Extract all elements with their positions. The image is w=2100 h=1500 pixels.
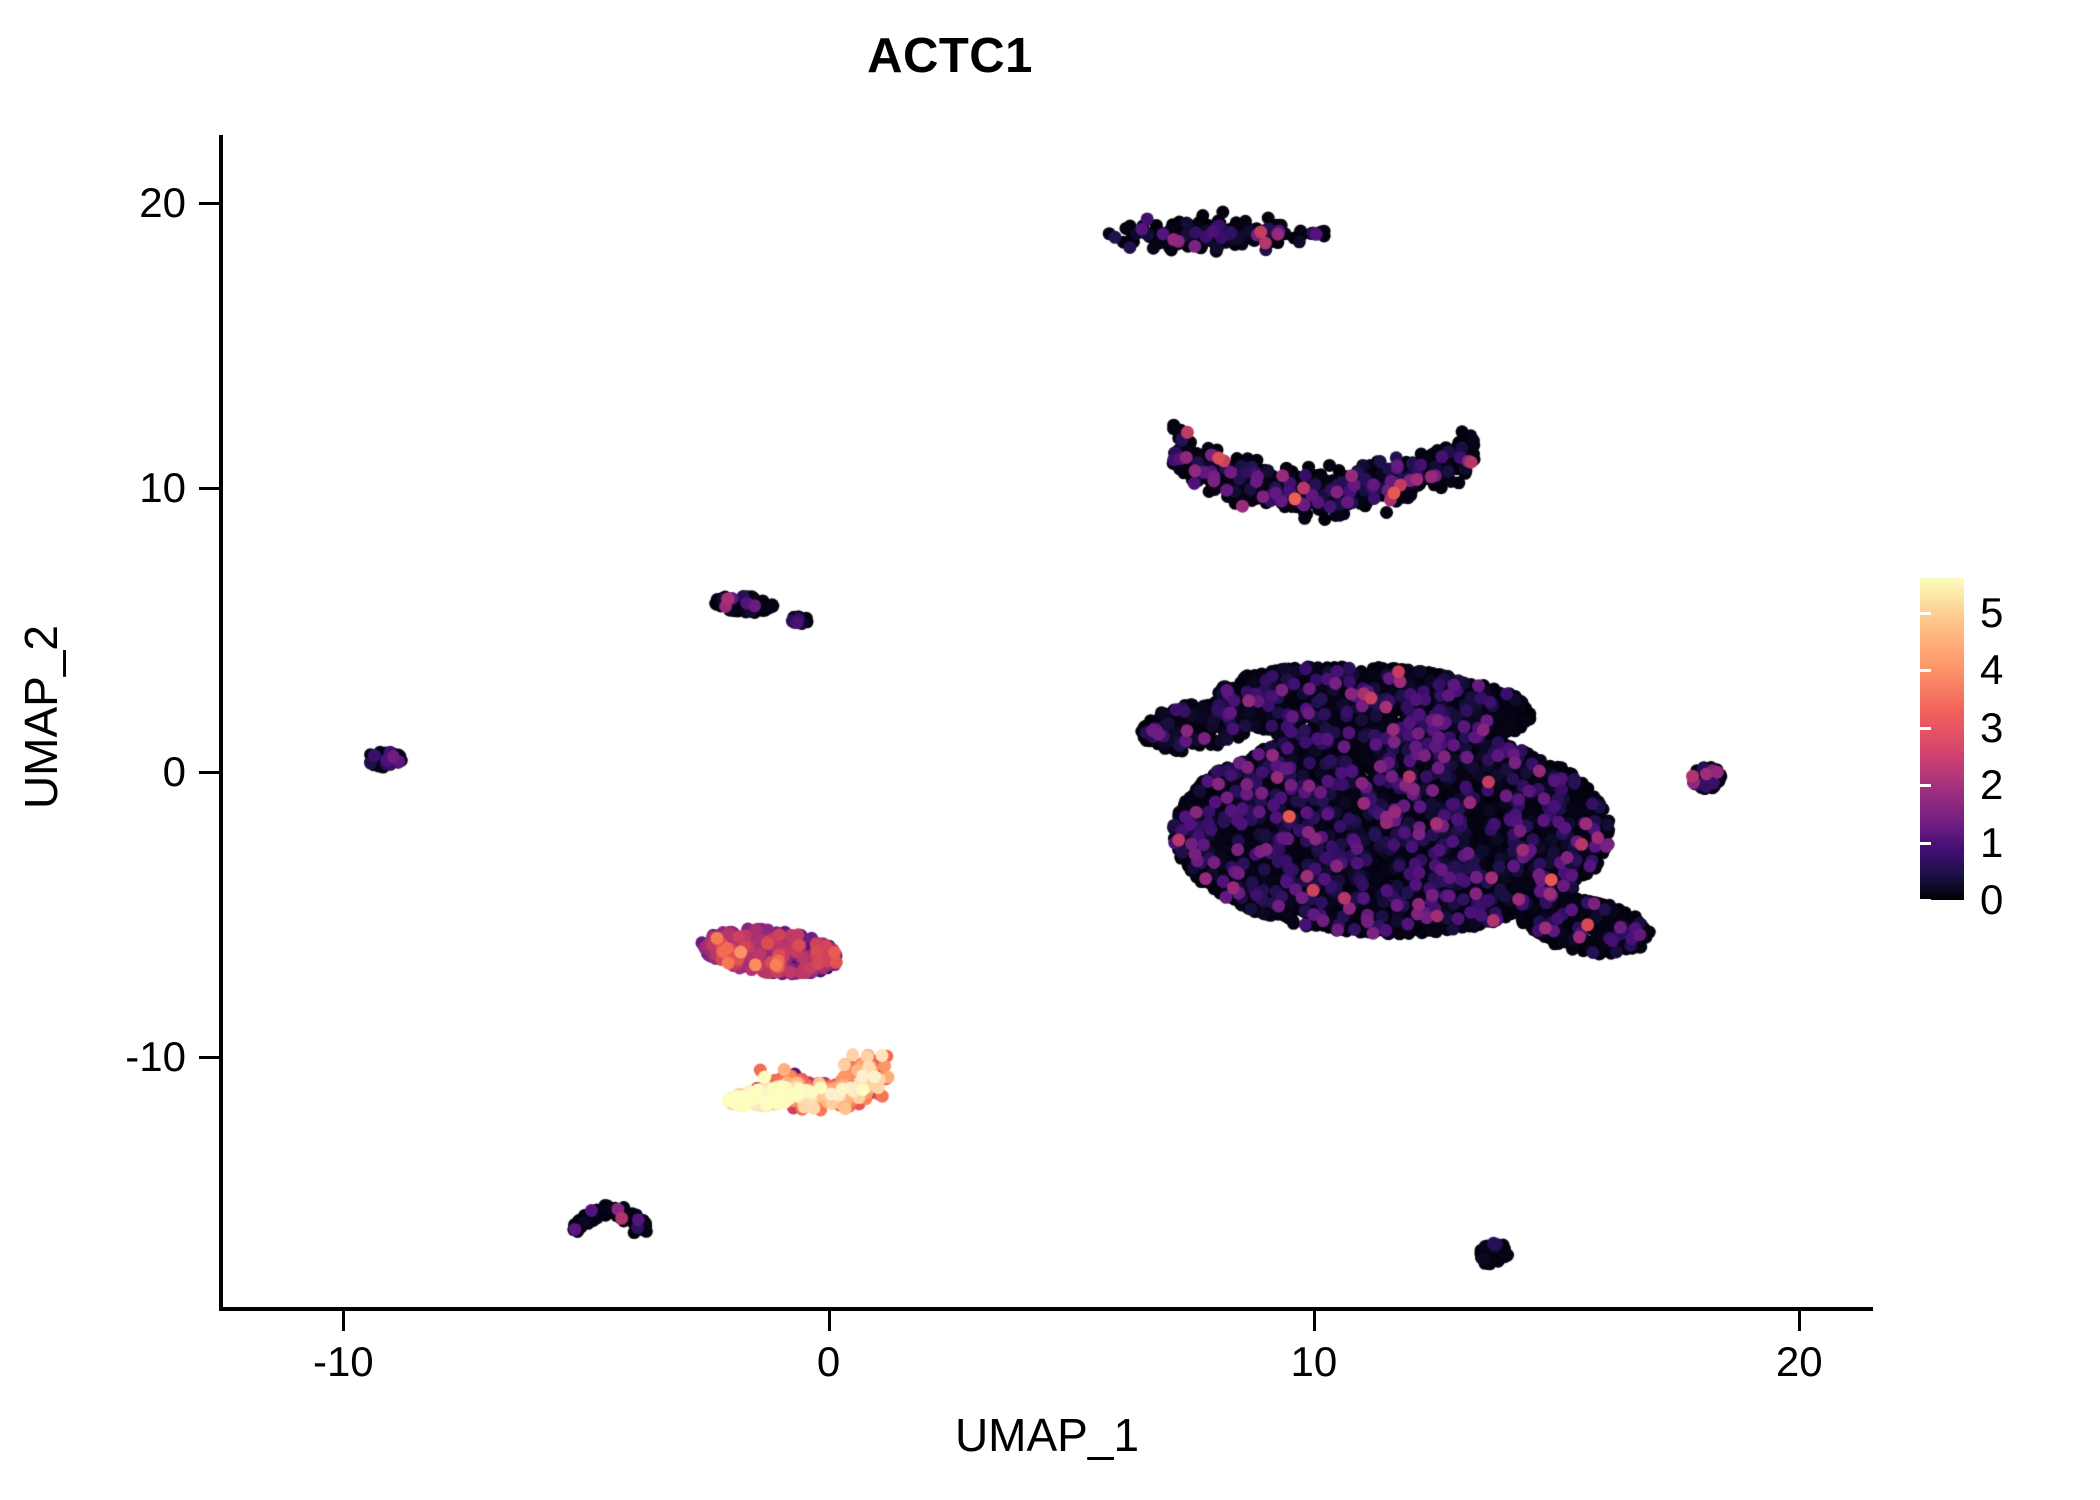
colorbar-tick-label: 3 [1980, 704, 2003, 752]
y-tick-mark [199, 771, 219, 774]
x-tick-mark [342, 1311, 345, 1331]
x-axis-title: UMAP_1 [222, 1408, 1872, 1462]
y-axis-title: UMAP_2 [14, 131, 68, 1303]
colorbar-tick-mark [2059, 612, 2070, 615]
x-tick-mark [1313, 1311, 1316, 1331]
x-tick-label: 0 [817, 1338, 840, 1386]
colorbar-tick-mark [1920, 612, 1931, 615]
colorbar-tick-label: 1 [1980, 819, 2003, 867]
colorbar-tick-mark [2059, 784, 2070, 787]
colorbar-tick-mark [2059, 842, 2070, 845]
scatter-canvas [222, 135, 1872, 1307]
colorbar-gradient [1920, 578, 1964, 900]
y-tick-mark [199, 1056, 219, 1059]
x-axis-line [222, 1307, 1873, 1311]
x-tick-mark [828, 1311, 831, 1331]
y-tick-mark [199, 487, 219, 490]
feature-plot-root: ACTC1 -1001020 20100-10 UMAP_1 UMAP_2 54… [0, 0, 2100, 1500]
colorbar-legend: 543210 [1920, 578, 2070, 900]
colorbar-tick-label: 2 [1980, 761, 2003, 809]
x-tick-label: -10 [313, 1338, 374, 1386]
x-tick-label: 10 [1291, 1338, 1338, 1386]
colorbar-tick-mark [1920, 784, 1931, 787]
colorbar-tick-mark [1920, 842, 1931, 845]
colorbar-tick-mark [2059, 899, 2070, 902]
colorbar-tick-label: 4 [1980, 646, 2003, 694]
colorbar-tick-label: 0 [1980, 876, 2003, 924]
page-title: ACTC1 [0, 28, 1900, 84]
x-tick-label: 20 [1776, 1338, 1823, 1386]
x-tick-mark [1798, 1311, 1801, 1331]
colorbar-tick-label: 5 [1980, 589, 2003, 637]
y-tick-mark [199, 202, 219, 205]
y-axis-line [219, 135, 223, 1311]
plot-panel [222, 135, 1872, 1307]
colorbar-tick-mark [1920, 669, 1931, 672]
colorbar-tick-mark [2059, 669, 2070, 672]
colorbar-tick-mark [2059, 727, 2070, 730]
colorbar-tick-mark [1920, 899, 1931, 902]
colorbar-tick-mark [1920, 727, 1931, 730]
